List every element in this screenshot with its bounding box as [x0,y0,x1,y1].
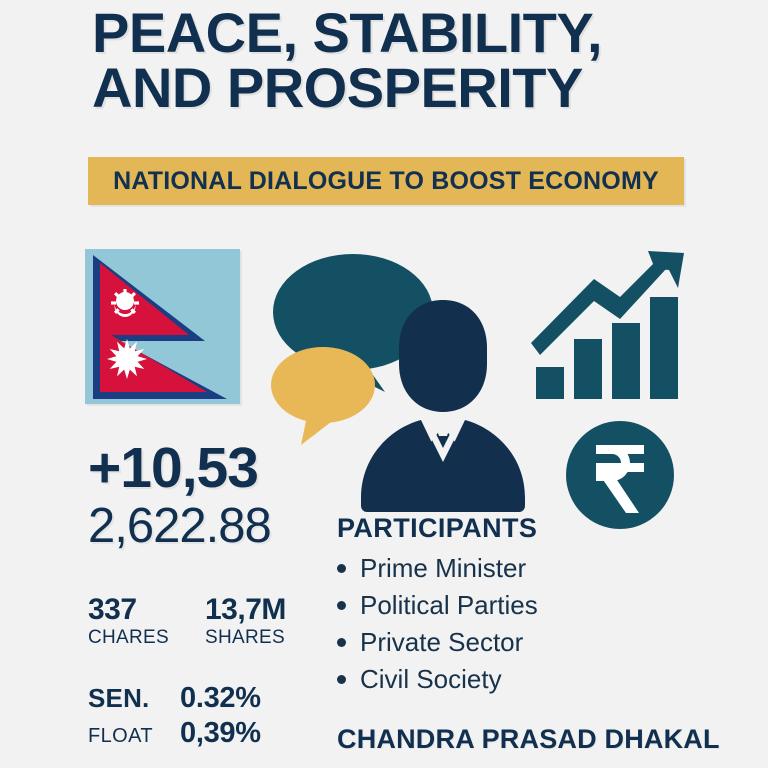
ratio-row: FLOAT 0,39% [88,717,261,750]
list-item: Political Parties [337,587,667,624]
title-line-2: AND PROSPERITY [92,61,712,116]
participants-section: PARTICIPANTS Prime Minister Political Pa… [337,513,667,698]
share-stats: 337 CHARES 13,7M SHARES [88,594,286,649]
speaker-name: CHANDRA PRASAD DHAKAL [337,724,720,755]
list-item-label: Civil Society [360,661,502,698]
stat-label: CHARES [88,627,169,650]
dialogue-illustration [265,240,555,530]
page-title: PEACE, STABILITY, AND PROSPERITY [92,6,712,116]
list-item-label: Private Sector [360,624,523,661]
bullet-icon [337,675,346,684]
list-item: Civil Society [337,661,667,698]
stat-value: 13,7M [205,594,286,626]
bullet-icon [337,601,346,610]
stat-item: 337 CHARES [88,594,169,649]
ratio-key: FLOAT [88,725,180,748]
list-item: Private Sector [337,624,667,661]
ratio-value: 0,39% [180,717,261,750]
market-change-value: +10,53 [88,440,258,497]
list-item: Prime Minister [337,550,667,587]
market-index-value: 2,622.88 [88,502,271,551]
participants-heading: PARTICIPANTS [337,513,667,544]
participants-list: Prime Minister Political Parties Private… [337,550,667,698]
list-item-label: Political Parties [360,587,538,624]
ratio-value: 0.32% [180,682,261,715]
subtitle-banner: NATIONAL DIALOGUE TO BOOST ECONOMY [88,157,684,205]
growth-bar-chart-arrow-icon [524,243,694,413]
infographic-canvas: PEACE, STABILITY, AND PROSPERITY NATIONA… [0,0,768,768]
stat-value: 337 [88,594,169,626]
ratio-row: SEN. 0.32% [88,682,261,715]
title-line-1: PEACE, STABILITY, [92,6,712,61]
ratio-stats: SEN. 0.32% FLOAT 0,39% [88,682,261,750]
subtitle-banner-label: NATIONAL DIALOGUE TO BOOST ECONOMY [113,167,659,196]
nepal-flag-icon [85,249,240,404]
list-item-label: Prime Minister [360,550,526,587]
ratio-key: SEN. [88,683,180,714]
stat-label: SHARES [205,627,286,650]
stat-item: 13,7M SHARES [205,594,286,649]
bullet-icon [337,564,346,573]
bullet-icon [337,638,346,647]
